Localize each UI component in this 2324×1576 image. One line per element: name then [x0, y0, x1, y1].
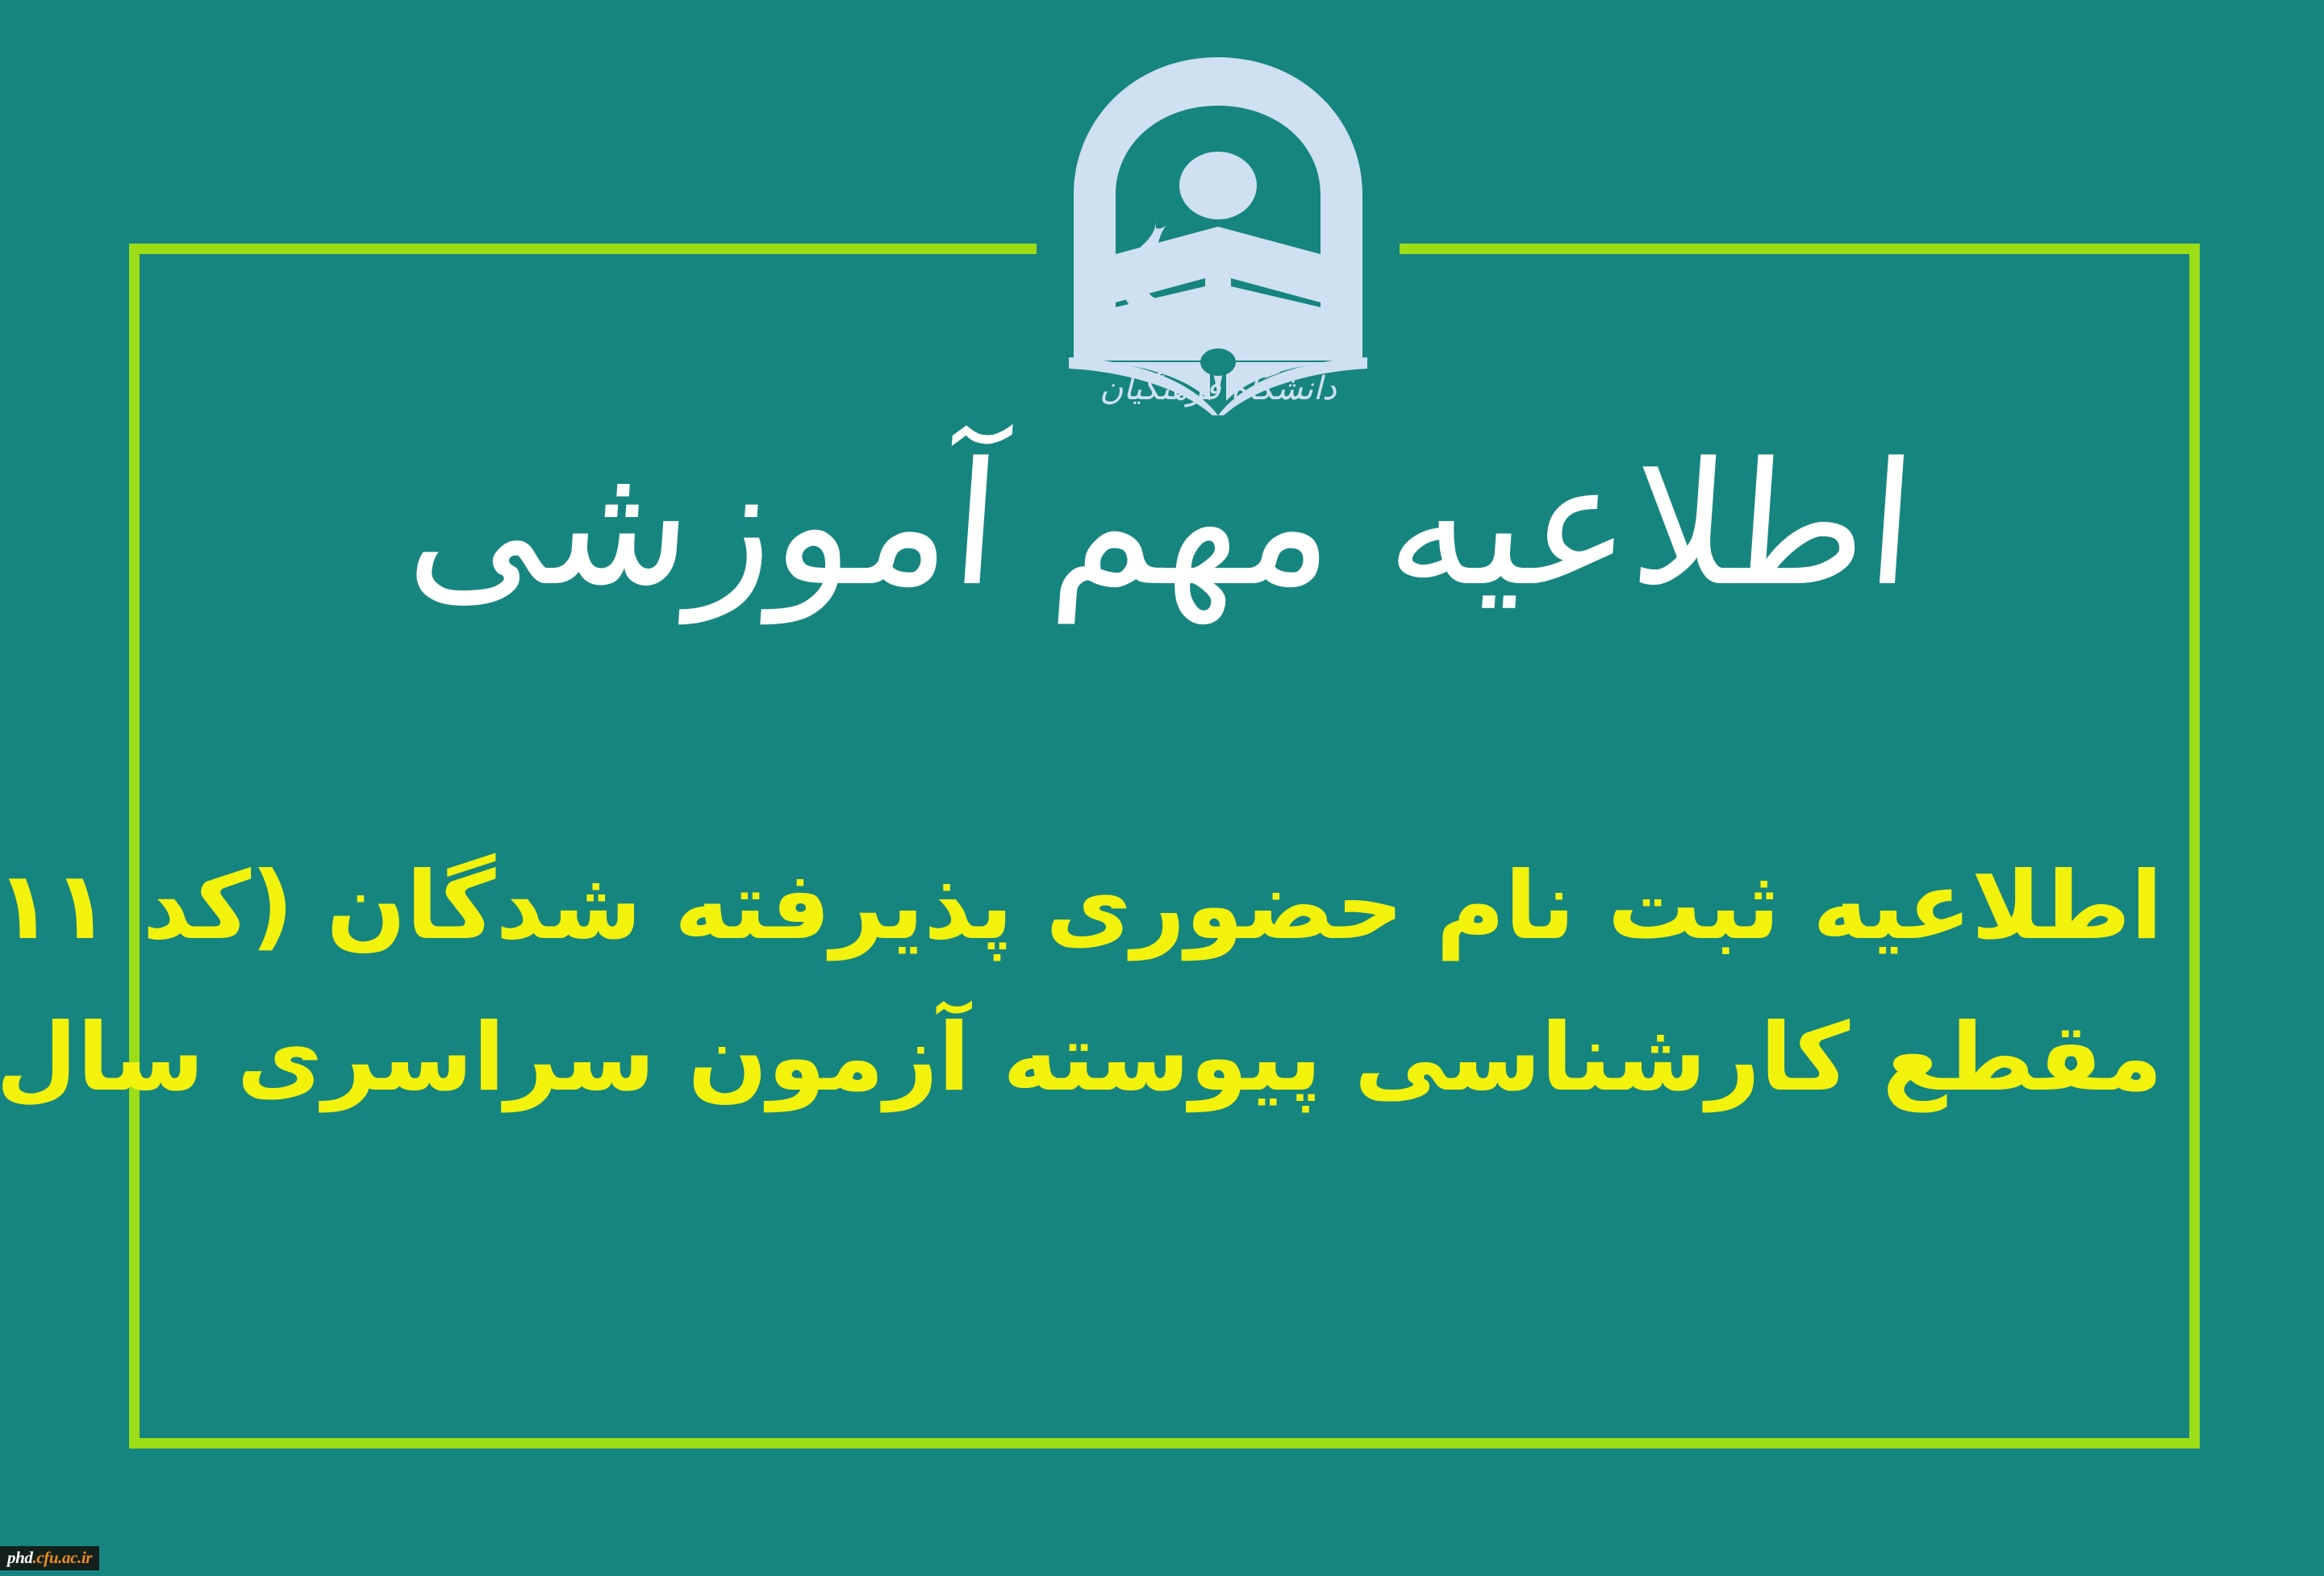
watermark-suffix: .cfu.ac.ir	[32, 1548, 92, 1567]
subtitle-block: اطلاعیه ثبت نام حضوری پذیرفته شدگان (کد …	[161, 831, 2163, 1134]
frame-border-bottom	[129, 1438, 2200, 1449]
farhangian-university-logo: دانشگاه فرهنگیان	[1037, 36, 1400, 415]
frame-border-right	[2189, 244, 2200, 1449]
frame-border-top-left	[129, 244, 1037, 254]
frame-border-top-right	[1400, 244, 2200, 254]
subtitle-line-1: اطلاعیه ثبت نام حضوری پذیرفته شدگان (کد …	[161, 831, 2163, 982]
announcement-poster: دانشگاه فرهنگیان اطلاعیه مهم آموزشی اطلا…	[0, 0, 2324, 1576]
watermark-prefix: phd	[7, 1548, 32, 1567]
logo-wordmark: دانشگاه فرهنگیان	[1099, 370, 1337, 407]
subtitle-line-2: مقطع کارشناسی پیوسته آزمون سراسری سال ۱۴…	[161, 982, 2163, 1134]
site-watermark: phd.cfu.ac.ir	[0, 1546, 99, 1570]
page-title: اطلاعیه مهم آموزشی	[0, 427, 2324, 623]
